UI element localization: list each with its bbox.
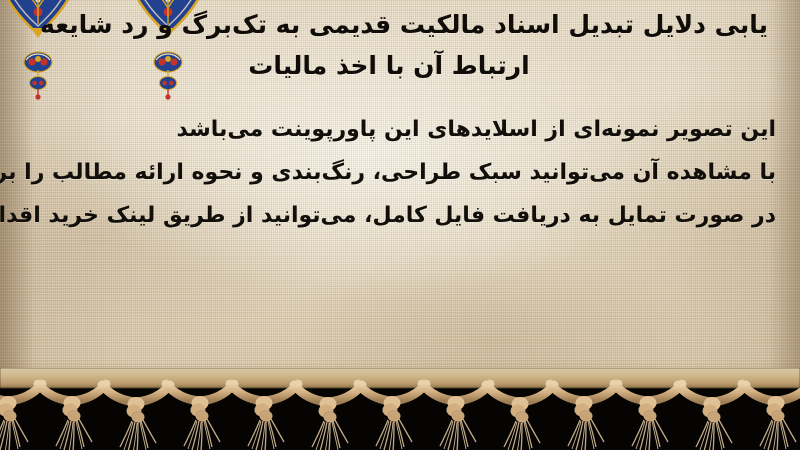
fringe-tassels-svg [0, 368, 800, 450]
carpet-fringe-tassels [0, 368, 800, 450]
slide-body-line-2: با مشاهده آن می‌توانید سبک طراحی، رنگ‌بن… [24, 151, 776, 194]
slide-body-line-1: این تصویر نمونه‌ای از اسلایدهای این پاور… [24, 108, 776, 151]
slide-title-line-1: یابی دلایل تبدیل اسناد مالکیت قدیمی به ت… [0, 4, 800, 45]
presentation-slide: یابی دلایل تبدیل اسناد مالکیت قدیمی به ت… [0, 0, 800, 450]
slide-body-line-3: در صورت تمایل به دریافت فایل کامل، می‌تو… [24, 194, 776, 237]
slide-title-line-2: ارتباط آن با اخذ مالیات [0, 45, 778, 86]
slide-body: این تصویر نمونه‌ای از اسلایدهای این پاور… [24, 108, 776, 237]
fringe-tassel-row [0, 384, 800, 450]
slide-title: یابی دلایل تبدیل اسناد مالکیت قدیمی به ت… [0, 4, 778, 86]
